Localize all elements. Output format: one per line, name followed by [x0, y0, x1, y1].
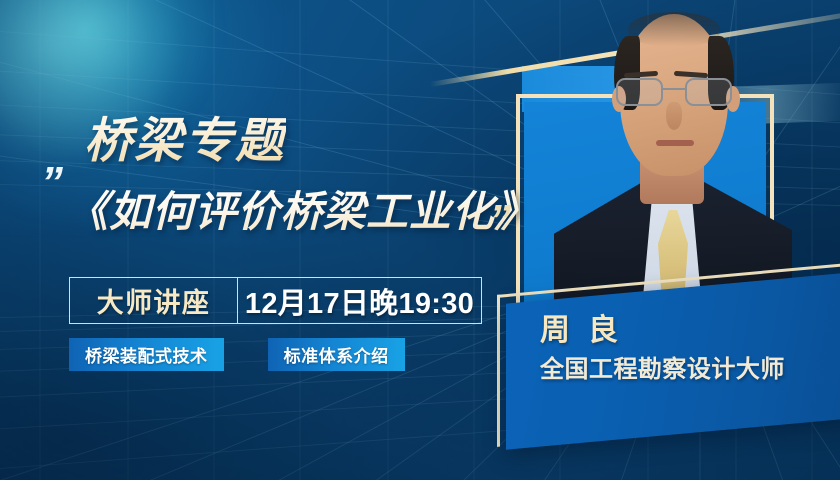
- lecture-type-cell: 大师讲座: [70, 278, 238, 323]
- glasses-bridge: [663, 88, 685, 90]
- lecture-datetime-label: 12月17日晚19:30: [245, 280, 474, 322]
- quote-open-mark: ”: [41, 161, 60, 205]
- topic-tag-list: 桥梁装配式技术 标准体系介绍: [69, 338, 405, 371]
- page-title: 桥梁专题: [84, 101, 286, 171]
- portrait-mouth: [656, 140, 694, 146]
- page-subtitle: 《如何评价桥梁工业化》: [66, 178, 537, 239]
- speaker-title: 全国工程勘察设计大师: [540, 349, 840, 384]
- glasses-lens-right: [685, 78, 732, 106]
- portrait-hair-top: [628, 12, 720, 46]
- portrait-nose: [666, 102, 682, 130]
- lecture-poster: 桥梁专题 ” 《如何评价桥梁工业化》 ” 大师讲座 12月17日晚19:30 桥…: [0, 0, 840, 480]
- speaker-nameplate: 周 良 全国工程勘察设计大师: [506, 272, 840, 449]
- glasses-lens-left: [616, 78, 663, 106]
- lecture-info-bar: 大师讲座 12月17日晚19:30: [69, 277, 482, 324]
- quote-close-mark: ”: [489, 199, 508, 243]
- nameplate-content: 周 良 全国工程勘察设计大师: [506, 288, 840, 384]
- topic-tag: 桥梁装配式技术: [69, 338, 224, 371]
- topic-tag: 标准体系介绍: [268, 338, 405, 371]
- speaker-name: 周 良: [540, 314, 840, 347]
- lecture-datetime-cell: 12月17日晚19:30: [238, 278, 481, 323]
- lecture-type-label: 大师讲座: [97, 281, 210, 320]
